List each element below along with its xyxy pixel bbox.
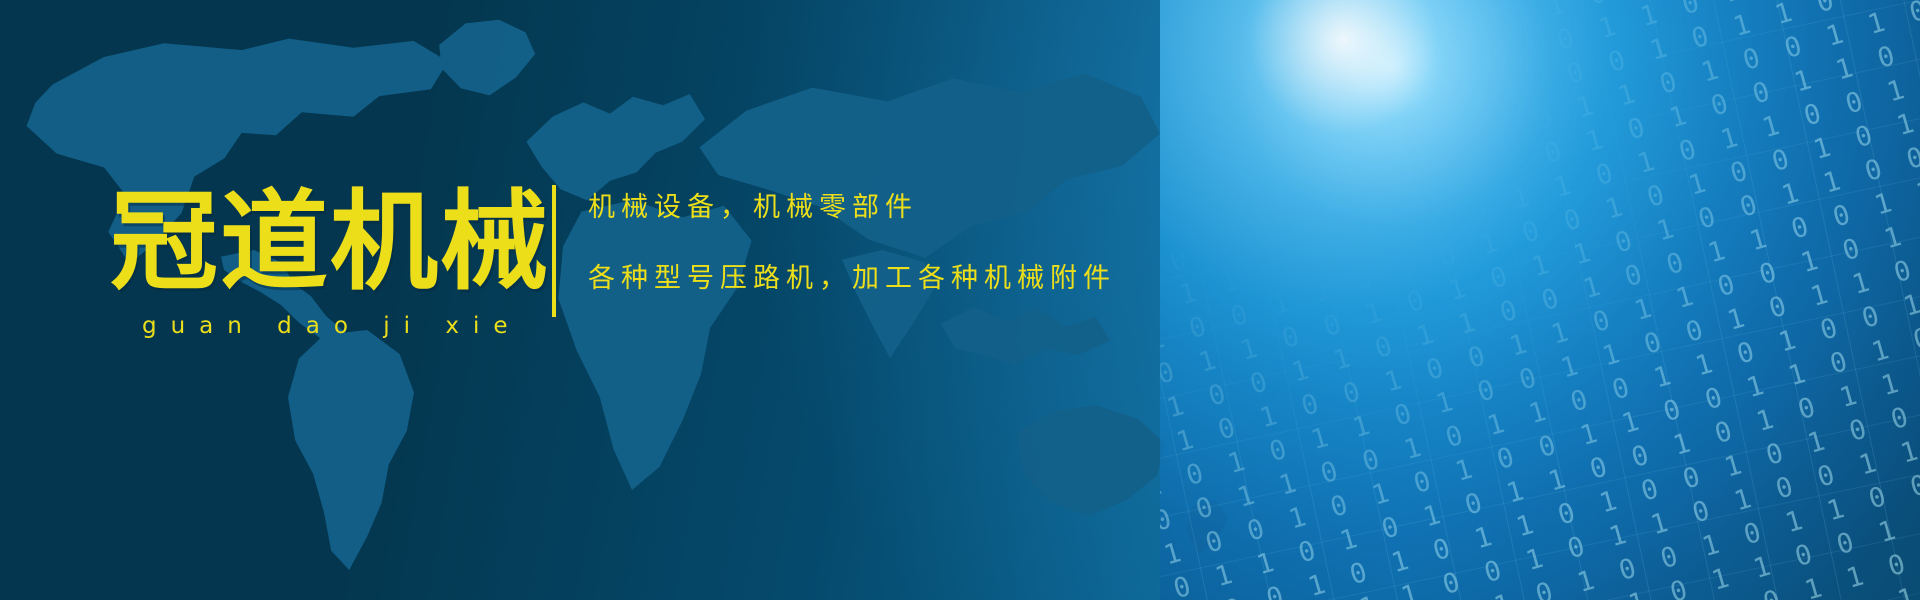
company-name-chinese: 冠道机械 bbox=[110, 186, 530, 299]
company-name-pinyin: guan dao ji xie bbox=[110, 313, 530, 339]
banner-content: 冠道机械 guan dao ji xie 机械设备，机械零部件 各种型号压路机，… bbox=[0, 0, 1250, 600]
globe-meridian-lines bbox=[1160, 0, 1920, 600]
promotional-banner: 1 0 0 1 0 1 1 0 0 1 0 1 1 0 1 0 0 1 1 0 … bbox=[0, 0, 1920, 600]
tagline-line-1: 机械设备，机械零部件 bbox=[588, 194, 1208, 221]
binary-data-globe: 1 0 0 1 0 1 1 0 0 1 0 1 1 0 1 0 0 1 1 0 … bbox=[1160, 0, 1920, 600]
tagline-list: 机械设备，机械零部件 各种型号压路机，加工各种机械附件 bbox=[588, 194, 1208, 292]
globe-sphere: 1 0 0 1 0 1 1 0 0 1 0 1 1 0 1 0 0 1 1 0 … bbox=[1160, 0, 1920, 600]
vertical-divider bbox=[552, 185, 556, 317]
tagline-line-2: 各种型号压路机，加工各种机械附件 bbox=[588, 265, 1208, 292]
company-logo: 冠道机械 guan dao ji xie bbox=[110, 186, 530, 339]
